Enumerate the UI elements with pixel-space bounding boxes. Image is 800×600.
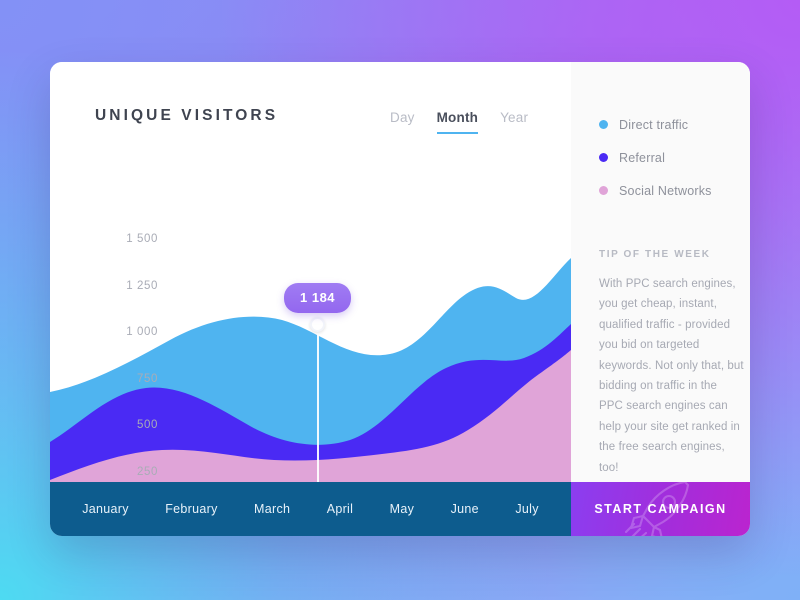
legend-item-referral[interactable]: Referral [599, 141, 750, 174]
legend-item-direct-traffic[interactable]: Direct traffic [599, 108, 750, 141]
app-background: 1 500 1 250 1 000 750 500 250 0 1 184 UN… [0, 0, 800, 600]
chart-pane: 1 500 1 250 1 000 750 500 250 0 1 184 UN… [50, 62, 571, 482]
month-item-june[interactable]: June [451, 502, 479, 516]
tip-of-the-week-title: TIP OF THE WEEK [599, 249, 750, 260]
dashboard-card: 1 500 1 250 1 000 750 500 250 0 1 184 UN… [50, 62, 750, 536]
value-tooltip: 1 184 [284, 283, 351, 313]
info-pane: Direct traffic Referral Social Networks … [571, 62, 750, 482]
legend-dot-icon [599, 120, 608, 129]
month-selector-bar: January February March April May June Ju… [50, 482, 571, 536]
page-title: UNIQUE VISITORS [95, 107, 278, 125]
tip-of-the-week-body: With PPC search engines, you get cheap, … [599, 274, 744, 478]
month-item-april[interactable]: April [327, 502, 354, 516]
legend-item-social-networks[interactable]: Social Networks [599, 174, 750, 207]
start-campaign-label: START CAMPAIGN [594, 502, 726, 516]
legend-label-referral: Referral [619, 151, 665, 165]
range-tabs: Day Month Year [390, 110, 528, 134]
legend-label-social-networks: Social Networks [619, 184, 712, 198]
highlight-marker-dot[interactable] [310, 317, 325, 332]
month-item-march[interactable]: March [254, 502, 290, 516]
y-axis-label-500: 500 [50, 419, 158, 431]
tab-month[interactable]: Month [437, 110, 478, 134]
legend-label-direct-traffic: Direct traffic [619, 118, 688, 132]
y-axis-label-1000: 1 000 [50, 326, 158, 338]
y-axis-label-1500: 1 500 [50, 233, 158, 245]
y-axis-label-750: 750 [50, 373, 158, 385]
y-axis-label-250: 250 [50, 466, 158, 478]
y-axis-label-1250: 1 250 [50, 280, 158, 292]
month-item-january[interactable]: January [82, 502, 129, 516]
tab-day[interactable]: Day [390, 110, 415, 132]
legend-dot-icon [599, 153, 608, 162]
month-item-may[interactable]: May [390, 502, 415, 516]
start-campaign-button[interactable]: START CAMPAIGN [571, 482, 750, 536]
month-item-february[interactable]: February [165, 502, 217, 516]
highlight-marker-line [317, 326, 319, 482]
month-item-july[interactable]: July [515, 502, 538, 516]
legend-dot-icon [599, 186, 608, 195]
tab-year[interactable]: Year [500, 110, 528, 132]
